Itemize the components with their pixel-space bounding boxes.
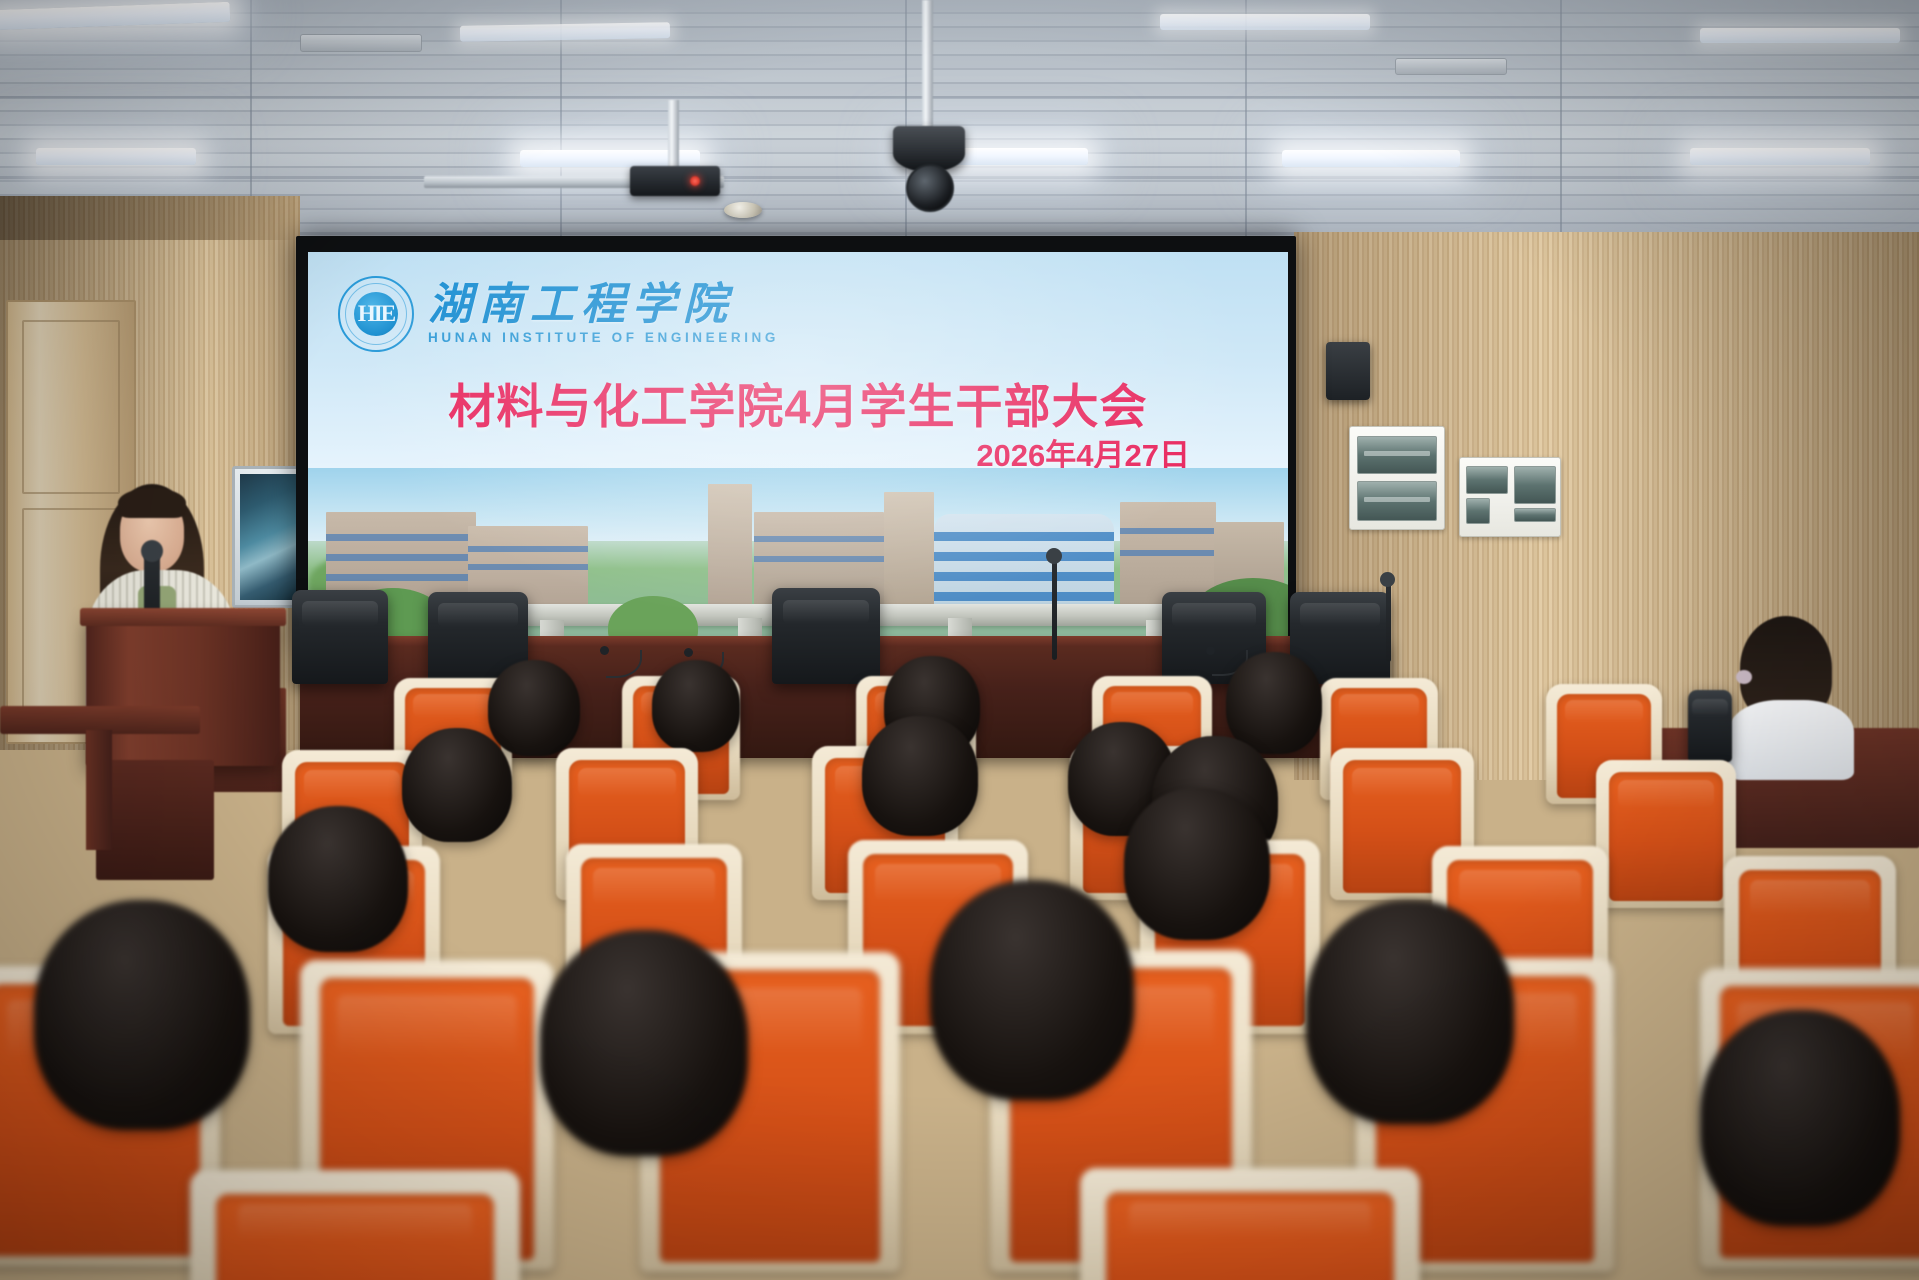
table-microphone-3 bbox=[1052, 556, 1057, 660]
seat-r5-c2[interactable] bbox=[1080, 1168, 1420, 1280]
institution-name-en: HUNAN INSTITUTE OF ENGINEERING bbox=[428, 330, 779, 345]
audience-head-r4-3 bbox=[930, 880, 1134, 1100]
audience-head-r4-2 bbox=[540, 930, 748, 1156]
seated-attendee-right bbox=[1716, 616, 1866, 776]
podium-base bbox=[96, 760, 214, 880]
projector-power-led bbox=[690, 176, 700, 186]
wall-speaker-right bbox=[1326, 342, 1370, 400]
audience-head-r3-1 bbox=[268, 806, 408, 952]
air-vent-left bbox=[300, 34, 422, 52]
conference-hall-screenshot: HIE 湖南工程学院 HUNAN INSTITUTE OF ENGINEERIN… bbox=[0, 0, 1919, 1280]
podium bbox=[86, 614, 280, 766]
air-vent-right bbox=[1395, 58, 1507, 75]
projection-screen-bezel: HIE 湖南工程学院 HUNAN INSTITUTE OF ENGINEERIN… bbox=[296, 236, 1296, 648]
electrical-panel bbox=[1349, 426, 1445, 530]
university-logo: HIE 湖南工程学院 HUNAN INSTITUTE OF ENGINEERIN… bbox=[338, 276, 779, 352]
presentation-slide: HIE 湖南工程学院 HUNAN INSTITUTE OF ENGINEERIN… bbox=[308, 252, 1288, 642]
ceiling-light-left bbox=[36, 148, 196, 165]
table-microphone-5 bbox=[1386, 580, 1391, 662]
audience-head-r3-2 bbox=[1124, 788, 1270, 940]
side-table-leg bbox=[86, 730, 112, 850]
ceiling-light-far-right-top bbox=[1700, 28, 1900, 43]
audience-head-r4-5 bbox=[1700, 1010, 1900, 1226]
ceiling-light-right bbox=[1282, 150, 1460, 167]
side-chair-right[interactable] bbox=[1688, 690, 1732, 762]
campus-building-round bbox=[934, 514, 1114, 610]
av-control-panel bbox=[1459, 457, 1561, 537]
campus-tower bbox=[708, 484, 752, 610]
logo-monogram: HIE bbox=[354, 292, 398, 336]
ceiling-light-upper-right bbox=[1160, 14, 1370, 30]
audience-head-r1-4 bbox=[1226, 652, 1322, 754]
seat-r5-c1[interactable] bbox=[190, 1170, 520, 1280]
audience-head-r1-2 bbox=[652, 660, 740, 752]
smoke-detector bbox=[724, 202, 762, 218]
seat-r2-c6[interactable] bbox=[1596, 760, 1736, 908]
podium-top bbox=[80, 608, 286, 626]
ceiling-projector bbox=[630, 166, 720, 196]
wall-left-upper bbox=[0, 196, 300, 240]
ceiling-light-far-right bbox=[1690, 148, 1870, 165]
microphone-head-icon bbox=[141, 540, 163, 562]
audience-head-r4-4 bbox=[1306, 900, 1514, 1124]
stage-chair-1[interactable] bbox=[292, 590, 388, 684]
audience-head-r2-2 bbox=[862, 716, 978, 836]
ptz-camera-lens bbox=[906, 164, 954, 212]
camera-drop-pole bbox=[922, 0, 933, 128]
slide-title: 材料与化工学院4月学生干部大会 bbox=[308, 368, 1288, 437]
institution-name-cn: 湖南工程学院 bbox=[428, 283, 779, 328]
audience-head-r2-1 bbox=[402, 728, 512, 842]
university-seal-icon: HIE bbox=[338, 276, 414, 352]
stage-chair-3[interactable] bbox=[772, 588, 880, 684]
audience-head-r1-1 bbox=[488, 660, 580, 756]
audience-head-r4-1 bbox=[34, 900, 250, 1130]
